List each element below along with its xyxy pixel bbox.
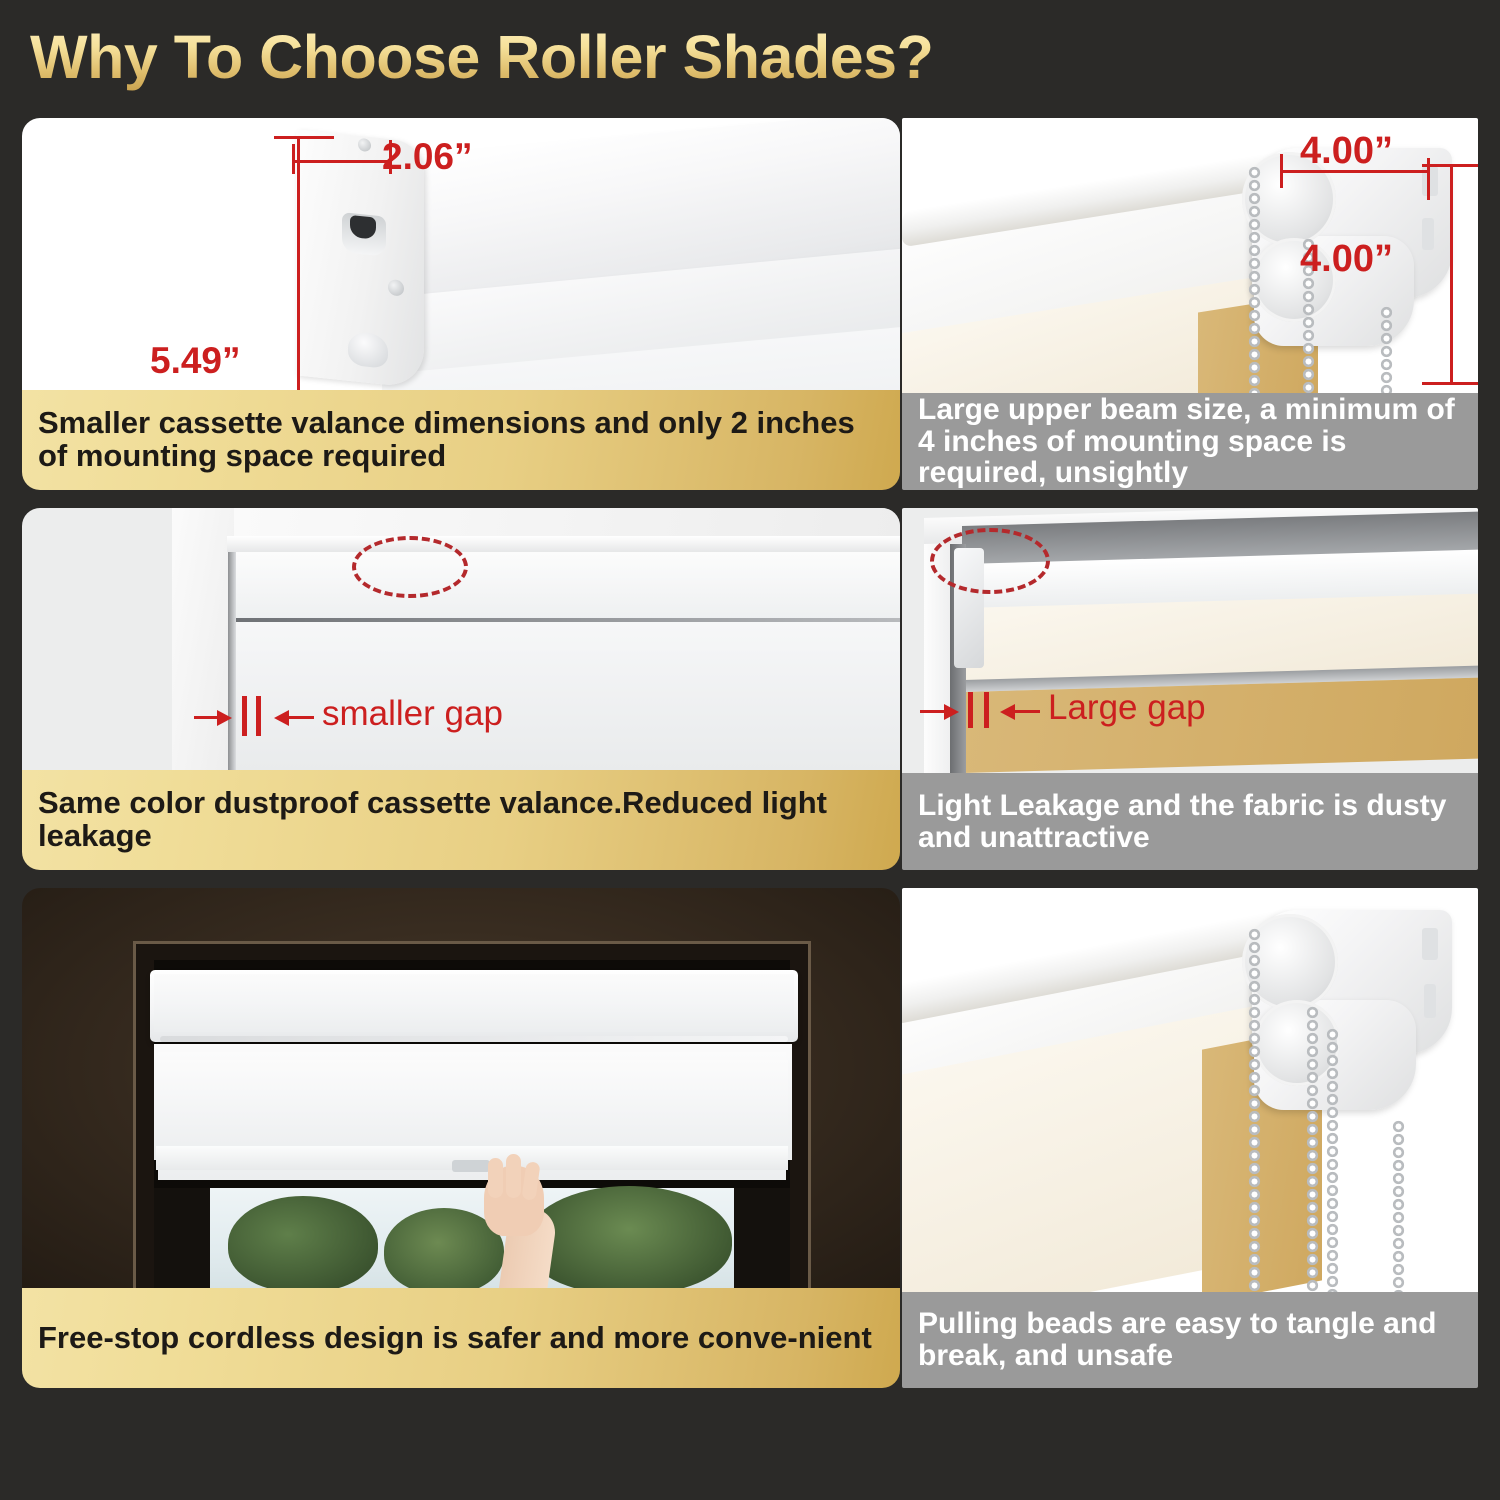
panel-1-caption-bar: Smaller cassette valance dimensions and … (22, 390, 900, 490)
panel-5-caption-text: Free-stop cordless design is safer and m… (22, 1322, 900, 1355)
beam-height-tick-top (1422, 164, 1478, 167)
gap-arrow-right-4 (1000, 704, 1015, 720)
bead-chain-mid-6 (1306, 1006, 1319, 1292)
panel-pro-cassette-size: 2.06” 5.49” Smaller cassette valance dim… (22, 118, 900, 490)
gap-marker-a (242, 696, 247, 736)
bead-chain-left-6 (1248, 928, 1261, 1292)
gap-marker-a-4 (968, 692, 973, 728)
panel-1-caption-text: Smaller cassette valance dimensions and … (22, 407, 900, 473)
cap-slot (342, 212, 386, 257)
screw-top (358, 138, 371, 152)
smaller-gap-label: smaller gap (322, 694, 503, 734)
panel-6-caption-text: Pulling beads are easy to tangle and bre… (902, 1308, 1478, 1372)
tree-right (526, 1186, 732, 1288)
panel-4-photo: Large gap (902, 508, 1478, 773)
screw-mid (388, 279, 404, 297)
frame-inner-shadow (228, 552, 236, 770)
gap-arrow-right-stem-4 (1014, 710, 1040, 713)
gap-arrow-left-4 (944, 704, 959, 720)
bracket-mount-slot-6-1 (1422, 928, 1438, 960)
panel-con-light-leakage: Large gap Light Leakage and the fabric i… (902, 508, 1478, 870)
window-frame-left (172, 508, 234, 770)
gap-marker-b (256, 696, 261, 736)
infographic-page: Why To Choose Roller Shades? 2.06” (0, 0, 1500, 1500)
panel-4-caption-text: Light Leakage and the fabric is dusty an… (902, 790, 1478, 854)
bracket-mount-slot-6-2 (1424, 984, 1436, 1018)
valance-face-5 (154, 974, 794, 1032)
beam-width-label: 4.00” (1300, 130, 1393, 173)
gap-arrow-left-stem (194, 716, 220, 719)
bead-chain-right-6 (1392, 1120, 1405, 1292)
width-dim-tick-left (292, 144, 295, 174)
pull-tab-5 (452, 1160, 490, 1172)
panel-3-photo: smaller gap (22, 508, 900, 770)
bracket-mount-slot-2 (1422, 218, 1434, 250)
panel-6-photo (902, 888, 1478, 1292)
window-mullion-right (734, 1188, 790, 1288)
cassette-assembly (262, 132, 882, 390)
panel-1-photo: 2.06” 5.49” (22, 118, 900, 390)
gap-arrow-left-stem-4 (920, 710, 946, 713)
panel-4-caption-bar: Light Leakage and the fabric is dusty an… (902, 773, 1478, 870)
page-title: Why To Choose Roller Shades? (30, 22, 933, 92)
large-gap-label: Large gap (1048, 688, 1206, 728)
panel-2-caption-text: Large upper beam size, a minimum of 4 in… (902, 394, 1478, 489)
height-dimension-label: 5.49” (150, 340, 241, 382)
panel-3-caption-text: Same color dustproof cassette valance.Re… (22, 787, 900, 853)
panel-con-beam-size: 4.00” 4.00” Large upper beam size, a min… (902, 118, 1478, 490)
bead-chain-mid2-6 (1326, 1028, 1339, 1292)
valance-seam-5 (160, 1036, 788, 1042)
gap-highlight-ellipse-4 (930, 528, 1050, 594)
panel-5-photo (22, 888, 900, 1288)
width-dim-line (292, 160, 392, 163)
gap-arrow-right-stem (288, 716, 314, 719)
panel-6-caption-bar: Pulling beads are easy to tangle and bre… (902, 1292, 1478, 1388)
panel-pro-cordless-design: Free-stop cordless design is safer and m… (22, 888, 900, 1388)
window-frame-bevel (227, 536, 900, 552)
panel-2-photo: 4.00” 4.00” (902, 118, 1478, 393)
cap-knob (348, 331, 388, 369)
height-dim-line (297, 136, 300, 390)
gap-highlight-ellipse (352, 536, 468, 598)
panel-2-caption-bar: Large upper beam size, a minimum of 4 in… (902, 393, 1478, 490)
gap-marker-b-4 (984, 692, 989, 728)
gap-arrow-right (274, 710, 289, 726)
shade-fabric-tan-4 (964, 678, 1478, 773)
window-mullion (154, 1188, 210, 1288)
height-dim-tick-top (274, 136, 334, 139)
width-dimension-label: 2.06” (382, 136, 473, 178)
beam-height-tick-bottom (1422, 382, 1478, 385)
panel-3-caption-bar: Same color dustproof cassette valance.Re… (22, 770, 900, 870)
finger-middle (506, 1154, 521, 1198)
valance-face (236, 552, 900, 620)
panel-con-pulling-beads: Pulling beads are easy to tangle and bre… (902, 888, 1478, 1388)
beam-width-tick-left (1280, 154, 1283, 188)
shade-lower-5 (156, 1060, 788, 1158)
panel-pro-dustproof-valance: smaller gap Same color dustproof cassett… (22, 508, 900, 870)
panel-5-caption-bar: Free-stop cordless design is safer and m… (22, 1288, 900, 1388)
beam-height-label: 4.00” (1300, 238, 1393, 281)
beam-height-dim-line (1450, 164, 1453, 384)
bead-chain-right (1380, 306, 1393, 393)
bead-chain-left (1248, 166, 1261, 393)
tree-left (228, 1196, 378, 1288)
finger-index (488, 1158, 503, 1198)
